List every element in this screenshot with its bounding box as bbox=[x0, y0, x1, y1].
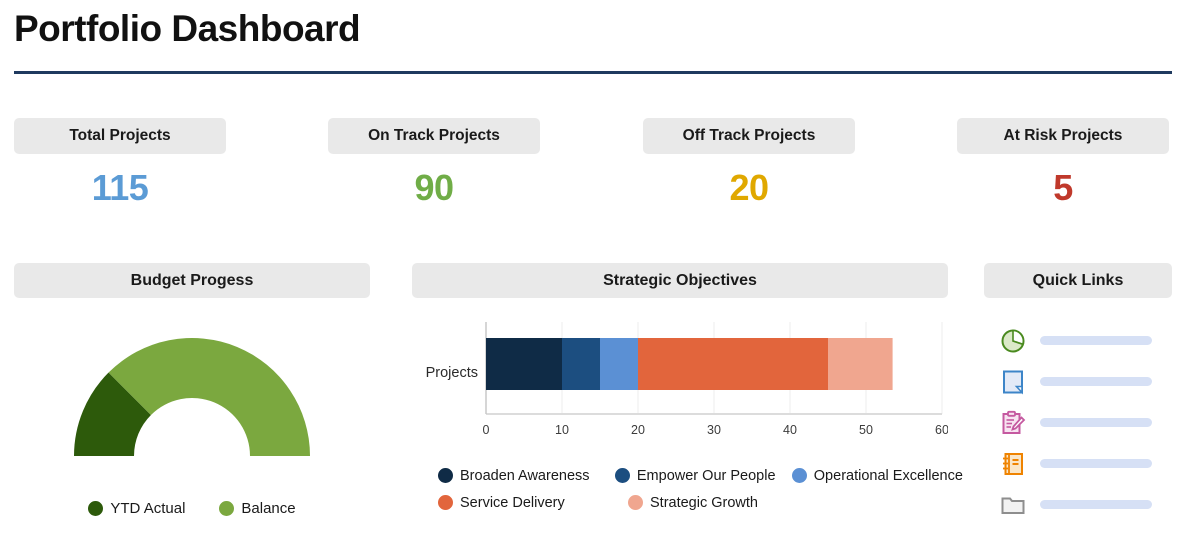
legend-item-ytd-actual[interactable]: YTD Actual bbox=[88, 500, 185, 517]
legend-item-service-delivery[interactable]: Service Delivery bbox=[438, 495, 628, 511]
document-icon bbox=[1000, 369, 1026, 395]
budget-gauge-legend: YTD Actual Balance bbox=[14, 500, 370, 517]
x-axis-tick-labels: 0102030405060 bbox=[483, 423, 948, 437]
legend-item-strategic-growth[interactable]: Strategic Growth bbox=[628, 495, 818, 511]
quick-links-list bbox=[1000, 320, 1172, 525]
kpi-card-at-risk-projects[interactable]: At Risk Projects 5 bbox=[957, 118, 1169, 208]
quick-link-label-placeholder bbox=[1040, 377, 1152, 386]
kpi-value: 20 bbox=[643, 168, 855, 208]
pie-chart-icon bbox=[1000, 328, 1026, 354]
title-divider bbox=[14, 71, 1172, 74]
strategic-objectives-chart: Projects 0102030405060 bbox=[412, 306, 948, 446]
kpi-value: 5 bbox=[957, 168, 1169, 208]
bar-segment[interactable] bbox=[828, 338, 893, 390]
quick-link-item[interactable] bbox=[1000, 361, 1172, 402]
panel-header-quick-links: Quick Links bbox=[984, 263, 1172, 298]
folder-icon bbox=[1000, 492, 1026, 518]
bar-segment[interactable] bbox=[638, 338, 828, 390]
legend-swatch-icon bbox=[615, 468, 630, 483]
x-axis-tick: 30 bbox=[707, 423, 721, 437]
kpi-row: Total Projects 115 On Track Projects 90 … bbox=[0, 118, 1186, 223]
bar-segment[interactable] bbox=[562, 338, 600, 390]
kpi-label: Off Track Projects bbox=[643, 118, 855, 154]
legend-swatch-icon bbox=[88, 501, 103, 516]
stacked-bar-segments bbox=[486, 338, 893, 390]
quick-link-label-placeholder bbox=[1040, 336, 1152, 345]
kpi-label: At Risk Projects bbox=[957, 118, 1169, 154]
quick-link-item[interactable] bbox=[1000, 402, 1172, 443]
kpi-label: Total Projects bbox=[14, 118, 226, 154]
kpi-card-total-projects[interactable]: Total Projects 115 bbox=[14, 118, 226, 208]
legend-row: Broaden Awareness Empower Our People Ope… bbox=[438, 462, 978, 489]
bar-chart-svg: Projects 0102030405060 bbox=[412, 306, 948, 446]
page-title: Portfolio Dashboard bbox=[14, 6, 360, 52]
legend-label: Balance bbox=[241, 500, 295, 517]
legend-swatch-icon bbox=[438, 495, 453, 510]
x-axis-tick: 0 bbox=[483, 423, 490, 437]
quick-link-item[interactable] bbox=[1000, 320, 1172, 361]
kpi-value: 90 bbox=[328, 168, 540, 208]
legend-item-empower-our-people[interactable]: Empower Our People bbox=[615, 468, 792, 484]
budget-progress-gauge bbox=[14, 308, 370, 483]
quick-link-label-placeholder bbox=[1040, 418, 1152, 427]
quick-link-label-placeholder bbox=[1040, 500, 1152, 509]
quick-link-item[interactable] bbox=[1000, 484, 1172, 525]
legend-item-broaden-awareness[interactable]: Broaden Awareness bbox=[438, 468, 615, 484]
quick-link-item[interactable] bbox=[1000, 443, 1172, 484]
legend-label: Broaden Awareness bbox=[460, 468, 590, 484]
legend-swatch-icon bbox=[219, 501, 234, 516]
bar-segment[interactable] bbox=[486, 338, 562, 390]
legend-swatch-icon bbox=[628, 495, 643, 510]
kpi-card-off-track-projects[interactable]: Off Track Projects 20 bbox=[643, 118, 855, 208]
kpi-value: 115 bbox=[14, 168, 226, 208]
legend-swatch-icon bbox=[792, 468, 807, 483]
legend-item-balance[interactable]: Balance bbox=[219, 500, 295, 517]
x-axis-tick: 40 bbox=[783, 423, 797, 437]
legend-label: Service Delivery bbox=[460, 495, 565, 511]
legend-label: Empower Our People bbox=[637, 468, 776, 484]
legend-row: Service Delivery Strategic Growth bbox=[438, 489, 978, 516]
gauge-segment-balance[interactable] bbox=[109, 338, 310, 456]
gauge-svg bbox=[42, 308, 342, 478]
panel-header-strategic-objectives: Strategic Objectives bbox=[412, 263, 948, 298]
x-axis-tick: 10 bbox=[555, 423, 569, 437]
x-axis-tick: 20 bbox=[631, 423, 645, 437]
y-axis-category-label: Projects bbox=[426, 365, 478, 381]
kpi-label: On Track Projects bbox=[328, 118, 540, 154]
x-axis-tick: 50 bbox=[859, 423, 873, 437]
kpi-card-on-track-projects[interactable]: On Track Projects 90 bbox=[328, 118, 540, 208]
legend-swatch-icon bbox=[438, 468, 453, 483]
bar-segment[interactable] bbox=[600, 338, 638, 390]
legend-label: YTD Actual bbox=[110, 500, 185, 517]
panel-header-budget-progress: Budget Progess bbox=[14, 263, 370, 298]
x-axis-tick: 60 bbox=[935, 423, 948, 437]
quick-link-label-placeholder bbox=[1040, 459, 1152, 468]
clipboard-edit-icon bbox=[1000, 410, 1026, 436]
legend-item-operational-excellence[interactable]: Operational Excellence bbox=[792, 468, 978, 484]
notebook-icon bbox=[1000, 451, 1026, 477]
legend-label: Strategic Growth bbox=[650, 495, 758, 511]
strategic-objectives-legend: Broaden Awareness Empower Our People Ope… bbox=[438, 462, 978, 516]
legend-label: Operational Excellence bbox=[814, 468, 963, 484]
